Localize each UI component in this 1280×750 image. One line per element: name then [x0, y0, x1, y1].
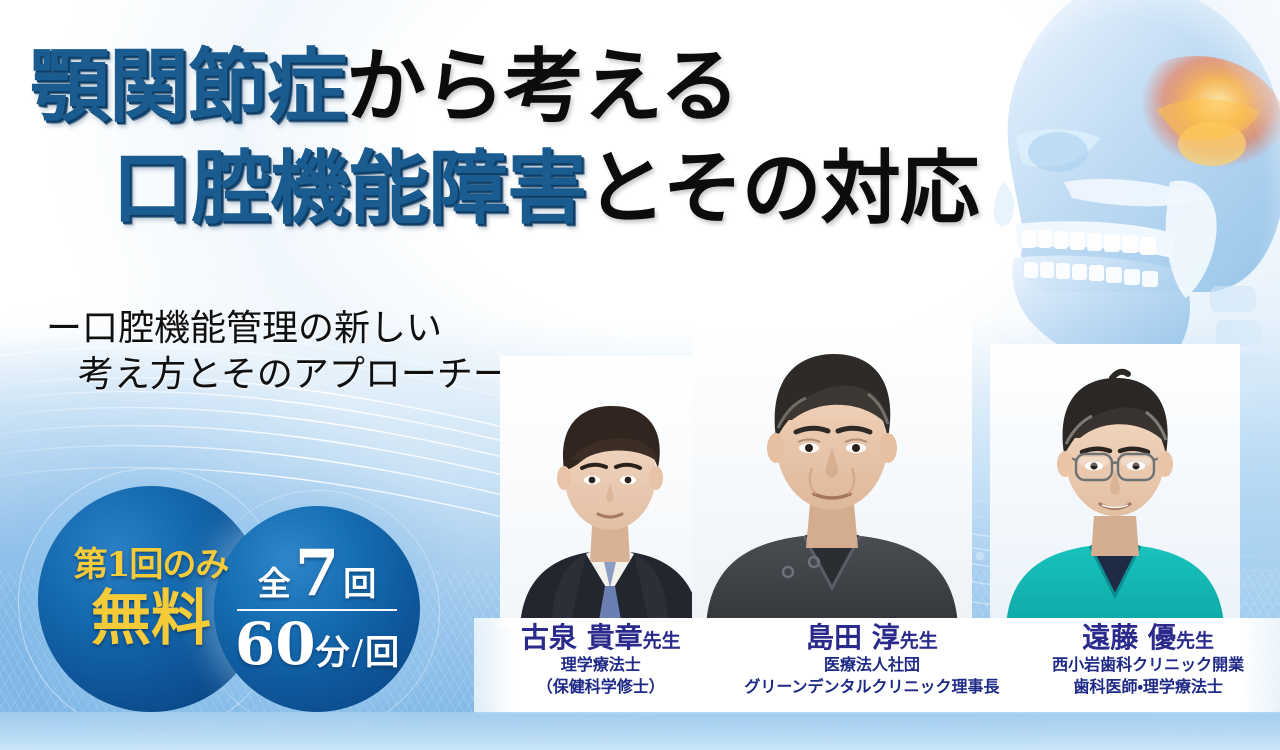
presenter-affiliation-1-line2: （保健科学修士） — [474, 677, 727, 697]
presenter-affiliation-3-line2: 歯科医師・理学療法士 — [1016, 677, 1280, 697]
free-badge-top-label: 第1回のみ — [74, 548, 229, 582]
session-count-unit: 回 — [343, 557, 376, 605]
presenter-honorific-1: 先生 — [643, 630, 681, 652]
presenter-name-band: 古泉 貴章先生 理学療法士 （保健科学修士） 島田 淳先生 医療法人社団 グリー… — [474, 618, 1280, 714]
presenter-name-3-text: 遠藤 優 — [1082, 621, 1176, 654]
presenter-name-3: 遠藤 優先生 — [1016, 622, 1280, 653]
page-subtitle: ー口腔機能管理の新しい 考え方とそのアプローチー — [46, 306, 509, 398]
presenter-name-1: 古泉 貴章先生 — [474, 622, 727, 653]
presenter-photos — [470, 322, 1280, 626]
presenter-affiliation-2-line2: グリーンデンタルクリニック理事長 — [727, 677, 1016, 697]
presenter-name-2: 島田 淳先生 — [727, 622, 1016, 653]
session-count-prefix: 全 — [258, 557, 291, 605]
presenter-card-2: 島田 淳先生 医療法人社団 グリーンデンタルクリニック理事長 — [727, 618, 1016, 714]
presenter-name-1-text: 古泉 貴章 — [521, 621, 643, 654]
free-badge-main-label: 無料 — [91, 588, 211, 651]
title-line-2-highlight: 口腔機能障害 — [112, 141, 586, 235]
presenter-name-2-text: 島田 淳 — [806, 621, 900, 654]
subtitle-line-1: ー口腔機能管理の新しい — [46, 308, 442, 349]
session-duration-slash: / — [350, 633, 365, 673]
presenter-photo-endo — [990, 344, 1240, 626]
title-line-1-rest: から考える — [346, 39, 739, 133]
presenter-card-3: 遠藤 優先生 西小岩歯科クリニック開業 歯科医師・理学療法士 — [1016, 618, 1280, 714]
title-line-2: 口腔機能障害とその対応 — [30, 148, 1120, 228]
page-title: 顎関節症から考える 口腔機能障害とその対応 — [30, 46, 1120, 228]
session-duration-row: 60 分 / 回 — [235, 615, 399, 674]
subtitle-line-2: 考え方とそのアプローチー — [46, 352, 509, 398]
session-count-divider — [237, 609, 397, 611]
presenter-affiliation-1-line1: 理学療法士 — [474, 655, 727, 675]
session-count-badge: 全 7 回 60 分 / 回 — [214, 506, 420, 712]
title-line-2-rest: とその対応 — [586, 141, 979, 235]
session-count-row: 全 7 回 — [258, 544, 377, 605]
session-duration-per-unit: 回 — [365, 625, 399, 674]
presenter-photo-koizumi — [500, 356, 720, 626]
seminar-banner: 顎関節症から考える 口腔機能障害とその対応 ー口腔機能管理の新しい 考え方とその… — [0, 0, 1280, 750]
bottom-gradient-strip — [0, 712, 1280, 750]
presenter-affiliation-2-line1: 医療法人社団 — [727, 655, 1016, 675]
presenter-honorific-2: 先生 — [900, 630, 938, 652]
session-count-number: 7 — [291, 544, 344, 605]
presenter-honorific-3: 先生 — [1176, 630, 1214, 652]
presenter-card-1: 古泉 貴章先生 理学療法士 （保健科学修士） — [474, 618, 727, 714]
title-line-1: 顎関節症から考える — [30, 46, 1120, 126]
presenter-photo-shimada — [692, 322, 972, 626]
title-line-1-highlight: 顎関節症 — [30, 39, 346, 133]
session-duration-unit: 分 — [316, 625, 350, 674]
session-duration-number: 60 — [235, 615, 316, 673]
presenter-affiliation-3-line1: 西小岩歯科クリニック開業 — [1016, 655, 1280, 675]
